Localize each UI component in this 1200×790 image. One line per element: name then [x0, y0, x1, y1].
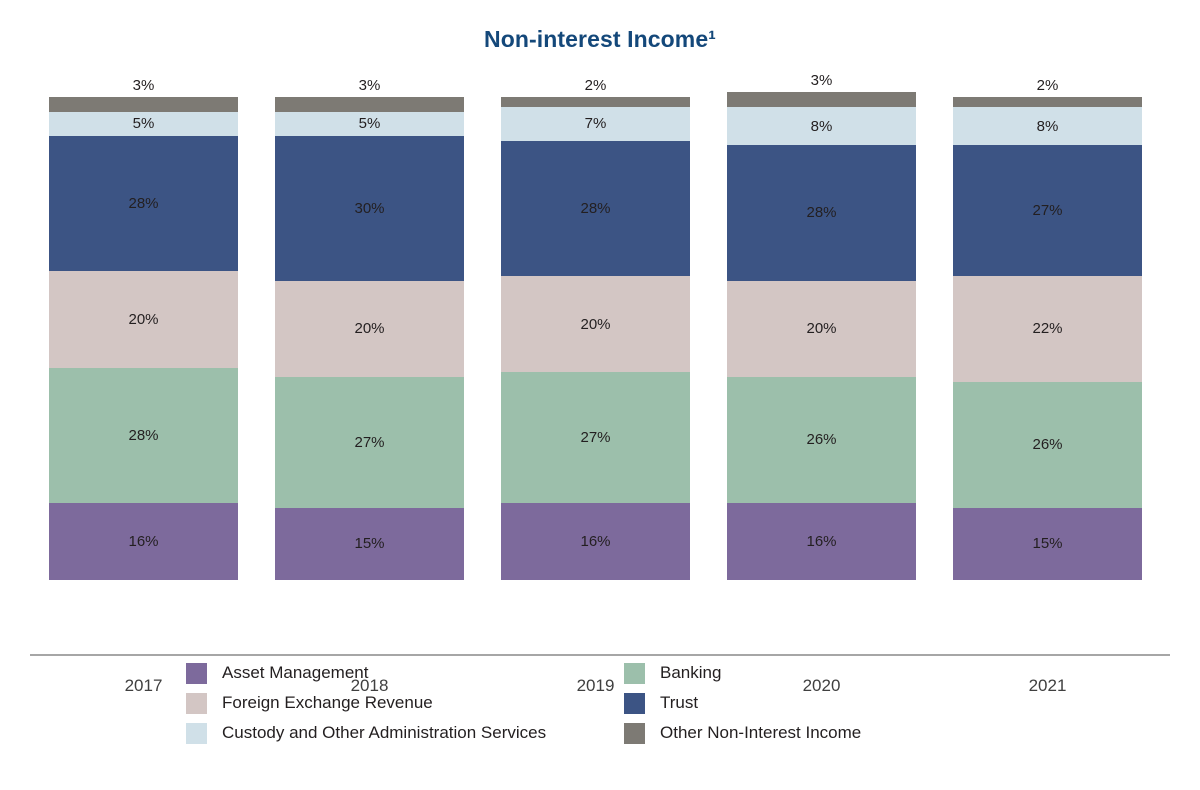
- legend-swatch: [624, 723, 645, 744]
- bar-segment[interactable]: 28%: [49, 136, 238, 271]
- bar-segment[interactable]: 27%: [275, 377, 464, 507]
- bar-segment[interactable]: 28%: [501, 141, 690, 276]
- bar-segment[interactable]: 20%: [275, 281, 464, 378]
- bar-segment-value-label: 3%: [727, 73, 916, 88]
- bar-segment-value-label: 26%: [806, 432, 836, 447]
- bar-segment-value-label: 28%: [128, 196, 158, 211]
- legend-item[interactable]: Asset Management: [186, 658, 546, 688]
- legend-item[interactable]: Foreign Exchange Revenue: [186, 688, 546, 718]
- bar-segment-value-label: 30%: [354, 201, 384, 216]
- legend-item[interactable]: Custody and Other Administration Service…: [186, 718, 546, 748]
- bar-segment[interactable]: 26%: [727, 377, 916, 503]
- bar-segment[interactable]: 3%: [49, 97, 238, 111]
- legend-item[interactable]: Trust: [624, 688, 861, 718]
- bar-segment[interactable]: 3%: [727, 92, 916, 106]
- bar-segment-value-label: 2%: [501, 78, 690, 93]
- bar-segment[interactable]: 8%: [727, 107, 916, 146]
- bar-segment-value-label: 2%: [953, 78, 1142, 93]
- bar-column[interactable]: 2%8%27%22%26%15%: [953, 80, 1142, 580]
- legend-item[interactable]: Banking: [624, 658, 861, 688]
- bar-segment[interactable]: 30%: [275, 136, 464, 281]
- bar-segment-value-label: 5%: [133, 116, 155, 131]
- bar-segment-value-label: 16%: [580, 534, 610, 549]
- bar-segment-value-label: 20%: [128, 312, 158, 327]
- legend-label: Trust: [660, 693, 698, 713]
- bar-segment-value-label: 5%: [359, 116, 381, 131]
- bar-segment[interactable]: 20%: [727, 281, 916, 378]
- bar-segment-value-label: 8%: [1037, 119, 1059, 134]
- page-title: Non-interest Income¹: [0, 26, 1200, 53]
- legend-label: Foreign Exchange Revenue: [222, 693, 433, 713]
- bar-segment-value-label: 28%: [806, 205, 836, 220]
- bar-segment-value-label: 20%: [806, 321, 836, 336]
- bar-segment-value-label: 3%: [49, 78, 238, 93]
- bar-segment-value-label: 27%: [580, 430, 610, 445]
- bar-column[interactable]: 2%7%28%20%27%16%: [501, 80, 690, 580]
- bar-segment[interactable]: 15%: [275, 508, 464, 580]
- legend-column-left: Asset ManagementForeign Exchange Revenue…: [186, 658, 546, 748]
- bar-segment-value-label: 27%: [354, 435, 384, 450]
- bar-segment[interactable]: 2%: [501, 97, 690, 107]
- bar-stack: 3%8%28%20%26%16%: [727, 92, 916, 580]
- bar-segment[interactable]: 5%: [49, 112, 238, 136]
- bar-segment[interactable]: 26%: [953, 382, 1142, 508]
- bar-segment-value-label: 22%: [1032, 321, 1062, 336]
- bar-segment-value-label: 20%: [354, 321, 384, 336]
- legend-column-right: BankingTrustOther Non-Interest Income: [624, 658, 861, 748]
- legend-swatch: [186, 693, 207, 714]
- bar-segment-value-label: 28%: [580, 201, 610, 216]
- bar-segment[interactable]: 2%: [953, 97, 1142, 107]
- bar-stack: 2%7%28%20%27%16%: [501, 97, 690, 580]
- bar-segment[interactable]: 7%: [501, 107, 690, 141]
- bar-segment[interactable]: 22%: [953, 276, 1142, 382]
- bar-stack: 2%8%27%22%26%15%: [953, 97, 1142, 580]
- bar-segment[interactable]: 16%: [49, 503, 238, 580]
- legend-item[interactable]: Other Non-Interest Income: [624, 718, 861, 748]
- bar-segment-value-label: 26%: [1032, 437, 1062, 452]
- bar-segment-value-label: 28%: [128, 428, 158, 443]
- bar-stack: 3%5%30%20%27%15%: [275, 97, 464, 580]
- legend-swatch: [624, 693, 645, 714]
- bar-segment-value-label: 16%: [806, 534, 836, 549]
- bar-segment[interactable]: 28%: [49, 368, 238, 503]
- legend-label: Custody and Other Administration Service…: [222, 723, 546, 743]
- bar-segment-value-label: 3%: [275, 78, 464, 93]
- legend-swatch: [186, 723, 207, 744]
- bar-column[interactable]: 3%5%28%20%28%16%: [49, 80, 238, 580]
- bar-segment[interactable]: 16%: [501, 503, 690, 580]
- bar-segment-value-label: 27%: [1032, 203, 1062, 218]
- bar-segment[interactable]: 27%: [501, 372, 690, 502]
- bar-segment-value-label: 8%: [811, 119, 833, 134]
- bar-segment-value-label: 16%: [128, 534, 158, 549]
- legend-swatch: [624, 663, 645, 684]
- bar-segment-value-label: 15%: [354, 536, 384, 551]
- bar-segment-value-label: 7%: [585, 116, 607, 131]
- bar-segment[interactable]: 20%: [501, 276, 690, 373]
- chart-legend: Asset ManagementForeign Exchange Revenue…: [0, 658, 1200, 758]
- bar-segment-value-label: 20%: [580, 317, 610, 332]
- bar-segment[interactable]: 15%: [953, 508, 1142, 580]
- legend-label: Asset Management: [222, 663, 368, 683]
- bar-column[interactable]: 3%8%28%20%26%16%: [727, 80, 916, 580]
- legend-swatch: [186, 663, 207, 684]
- legend-label: Banking: [660, 663, 721, 683]
- chart-plot-area: 3%5%28%20%28%16%3%5%30%20%27%15%2%7%28%2…: [0, 80, 1200, 580]
- legend-label: Other Non-Interest Income: [660, 723, 861, 743]
- bar-segment-value-label: 15%: [1032, 536, 1062, 551]
- bar-segment[interactable]: 27%: [953, 145, 1142, 275]
- bar-segment[interactable]: 28%: [727, 145, 916, 280]
- bar-stack: 3%5%28%20%28%16%: [49, 97, 238, 580]
- bar-segment[interactable]: 5%: [275, 112, 464, 136]
- x-axis-line: [30, 654, 1170, 656]
- bar-segment[interactable]: 3%: [275, 97, 464, 111]
- bar-segment[interactable]: 8%: [953, 107, 1142, 146]
- bar-segment[interactable]: 20%: [49, 271, 238, 368]
- bar-column[interactable]: 3%5%30%20%27%15%: [275, 80, 464, 580]
- bar-segment[interactable]: 16%: [727, 503, 916, 580]
